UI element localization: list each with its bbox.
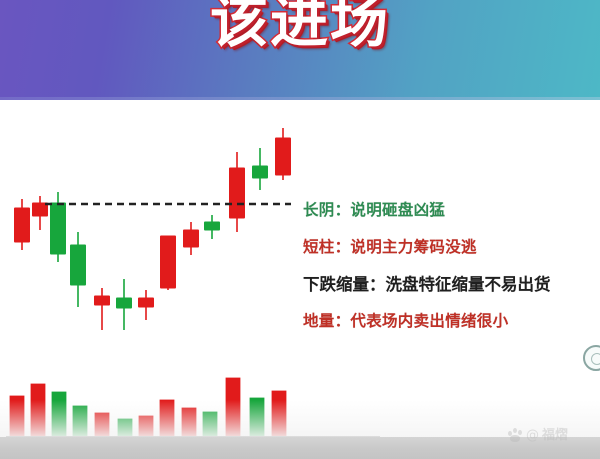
candlestick — [253, 148, 268, 190]
candle-body — [161, 236, 176, 288]
watermark-name: 福熠 — [542, 428, 568, 443]
page-title: 该进场 — [0, 0, 600, 60]
candlestick — [51, 192, 66, 262]
candle-body — [253, 166, 268, 178]
candlestick — [230, 152, 245, 232]
candlestick — [15, 199, 30, 250]
candlestick — [33, 196, 48, 230]
volume-bar — [31, 384, 45, 436]
annotation-line-2: 短柱：说明主力筹码没逃 — [303, 229, 595, 266]
header-banner: 该进场 — [0, 0, 600, 100]
watermark-at: @ — [526, 428, 539, 443]
volume-bar — [160, 400, 174, 436]
candle-body — [95, 296, 110, 305]
candle-body — [276, 138, 291, 175]
volume-bar — [139, 416, 153, 436]
volume-bar — [272, 391, 286, 436]
candlestick — [276, 128, 291, 180]
candlestick — [95, 288, 110, 330]
page-root: 该进场 长阴：说明砸盘凶猛 短柱：说明主力筹码没逃 下跌缩量：洗盘特征缩量不易出… — [0, 0, 600, 459]
candle-body — [205, 222, 220, 230]
candlestick — [161, 236, 176, 290]
baidu-paw-icon — [508, 428, 523, 443]
volume-bar — [10, 396, 24, 436]
annotation-list: 长阴：说明砸盘凶猛 短柱：说明主力筹码没逃 下跌缩量：洗盘特征缩量不易出货 地量… — [303, 192, 595, 340]
volume-bar — [95, 413, 109, 436]
annotation-line-4: 地量：代表场内卖出情绪很小 — [303, 303, 595, 340]
candlestick — [184, 222, 199, 255]
candlestick — [139, 290, 154, 320]
candle-body — [15, 208, 30, 242]
candle-body — [184, 230, 199, 247]
annotation-line-3: 下跌缩量：洗盘特征缩量不易出货 — [303, 266, 595, 303]
candle-body — [139, 298, 154, 307]
candlestick — [205, 215, 220, 239]
candle-body — [71, 245, 86, 285]
volume-bar — [73, 406, 87, 436]
volume-bar — [182, 408, 196, 436]
watermark: @ 福熠 — [508, 428, 568, 443]
candle-body — [51, 203, 66, 254]
volume-bar — [52, 392, 66, 436]
candlestick — [117, 279, 132, 330]
volume-bar — [250, 398, 264, 436]
volume-bar — [226, 378, 240, 436]
candlestick — [71, 232, 86, 307]
volume-bar — [203, 412, 217, 436]
candle-body — [230, 168, 245, 218]
volume-bar — [118, 419, 132, 436]
annotation-line-1: 长阴：说明砸盘凶猛 — [303, 192, 595, 229]
candle-body — [117, 298, 132, 308]
